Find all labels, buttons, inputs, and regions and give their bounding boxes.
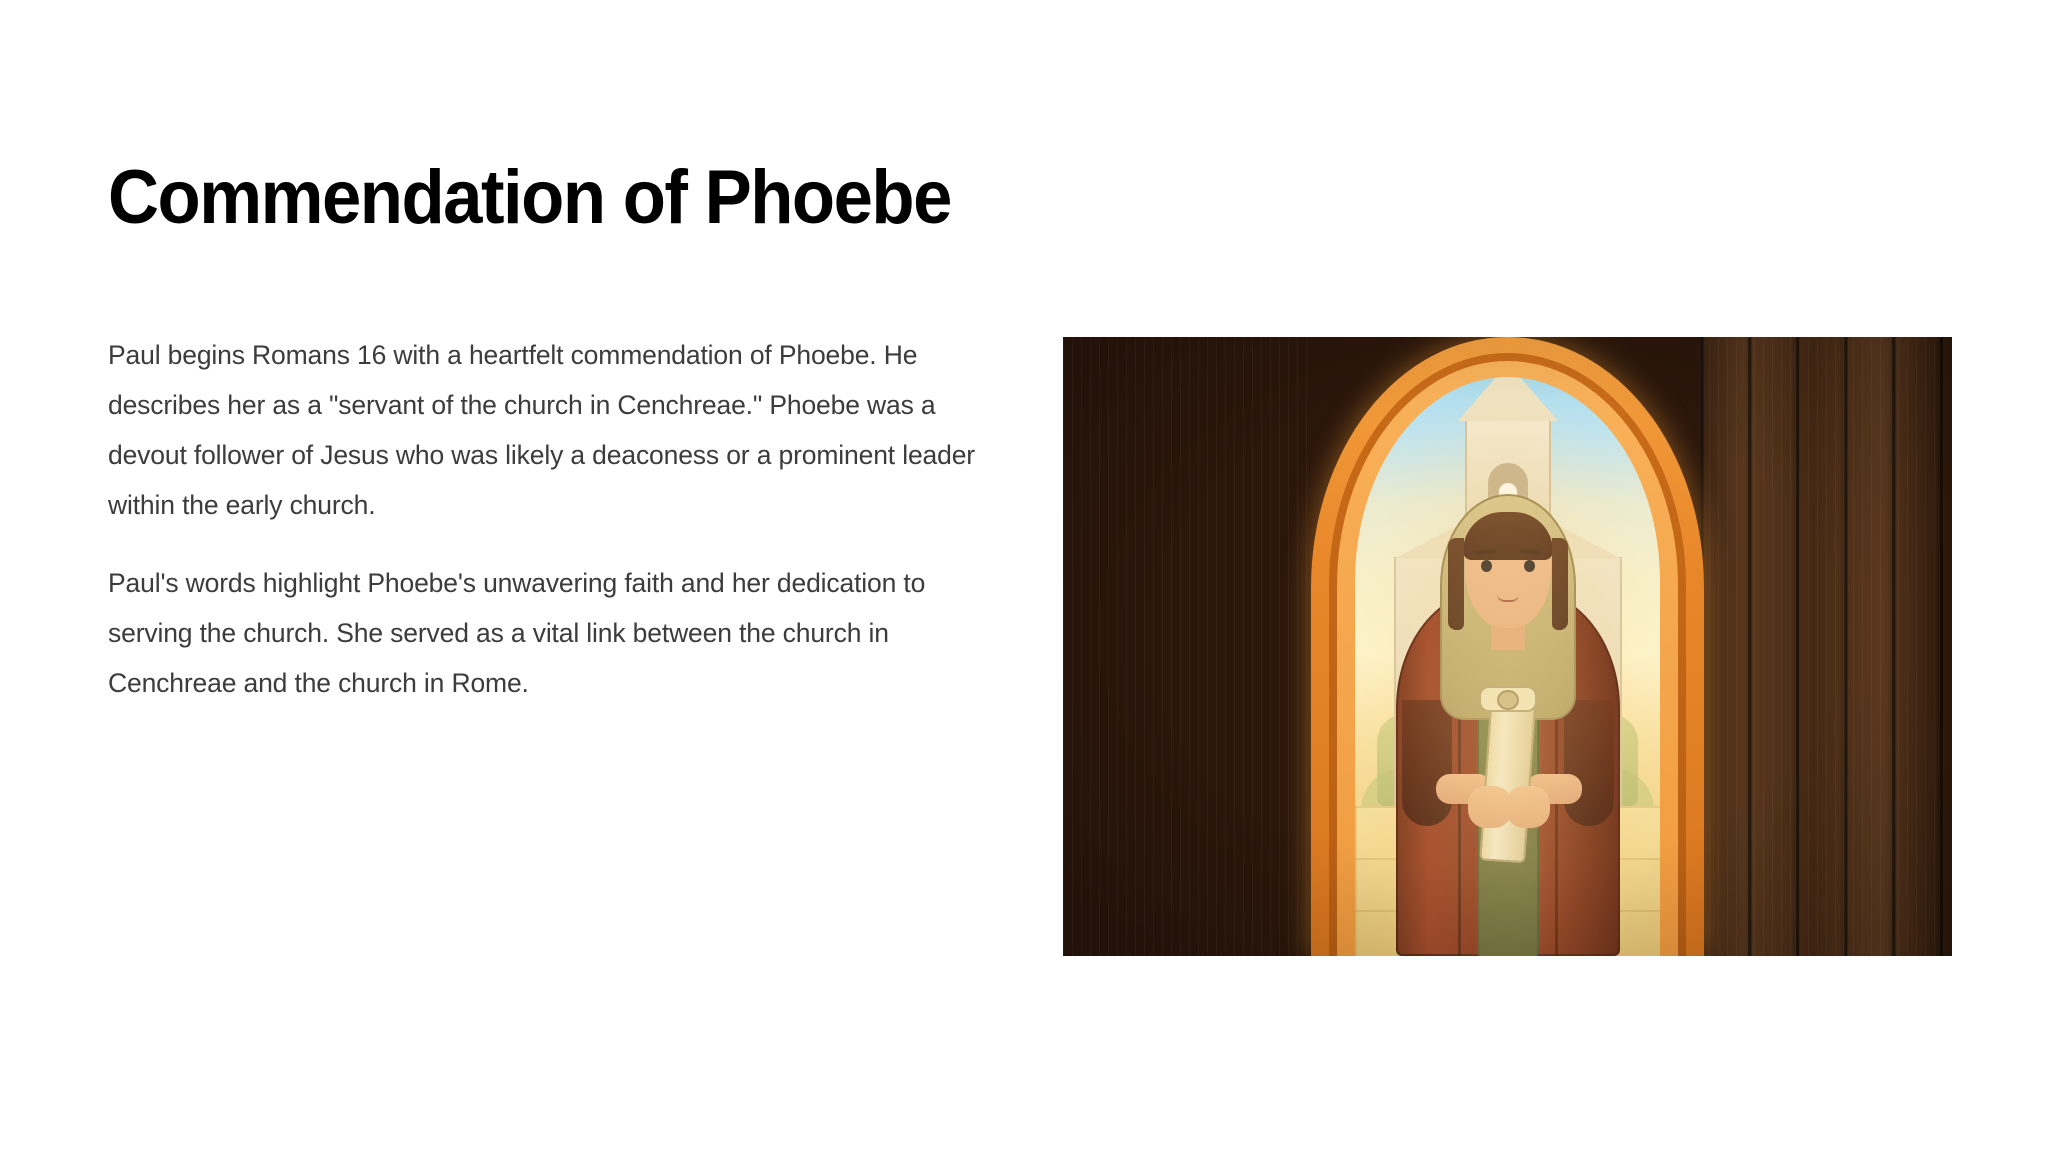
outdoor-scene [1355, 377, 1660, 956]
page-title: Commendation of Phoebe [108, 160, 951, 236]
slide-root: Commendation of Phoebe Paul begins Roman… [0, 0, 2048, 1152]
phoebe-figure [1388, 486, 1628, 956]
robe-sleeve-right [1564, 700, 1614, 826]
phoebe-in-church-doorway-illustration [1063, 337, 1952, 956]
body-paragraph-1: Paul begins Romans 16 with a heartfelt c… [108, 330, 988, 530]
phoebe-eye-left [1481, 560, 1492, 572]
wooden-door-panel-left [1063, 337, 1315, 956]
wooden-door-panel-right [1700, 337, 1952, 956]
body-paragraph-2: Paul's words highlight Phoebe's unwaveri… [108, 558, 988, 708]
phoebe-hand-right [1506, 786, 1550, 828]
robe-sleeve-left [1402, 700, 1452, 826]
phoebe-hair-strand-right [1552, 538, 1568, 630]
phoebe-hair-strand-left [1448, 538, 1464, 630]
archway-opening [1311, 337, 1704, 956]
body-text-column: Paul begins Romans 16 with a heartfelt c… [108, 330, 988, 708]
illustration-canvas [1063, 337, 1952, 956]
church-spire [1458, 377, 1558, 421]
robe-fold-left [1458, 706, 1461, 956]
phoebe-eye-right [1524, 560, 1535, 572]
scroll-wax-seal-icon [1497, 690, 1519, 710]
robe-fold-right [1555, 706, 1558, 956]
